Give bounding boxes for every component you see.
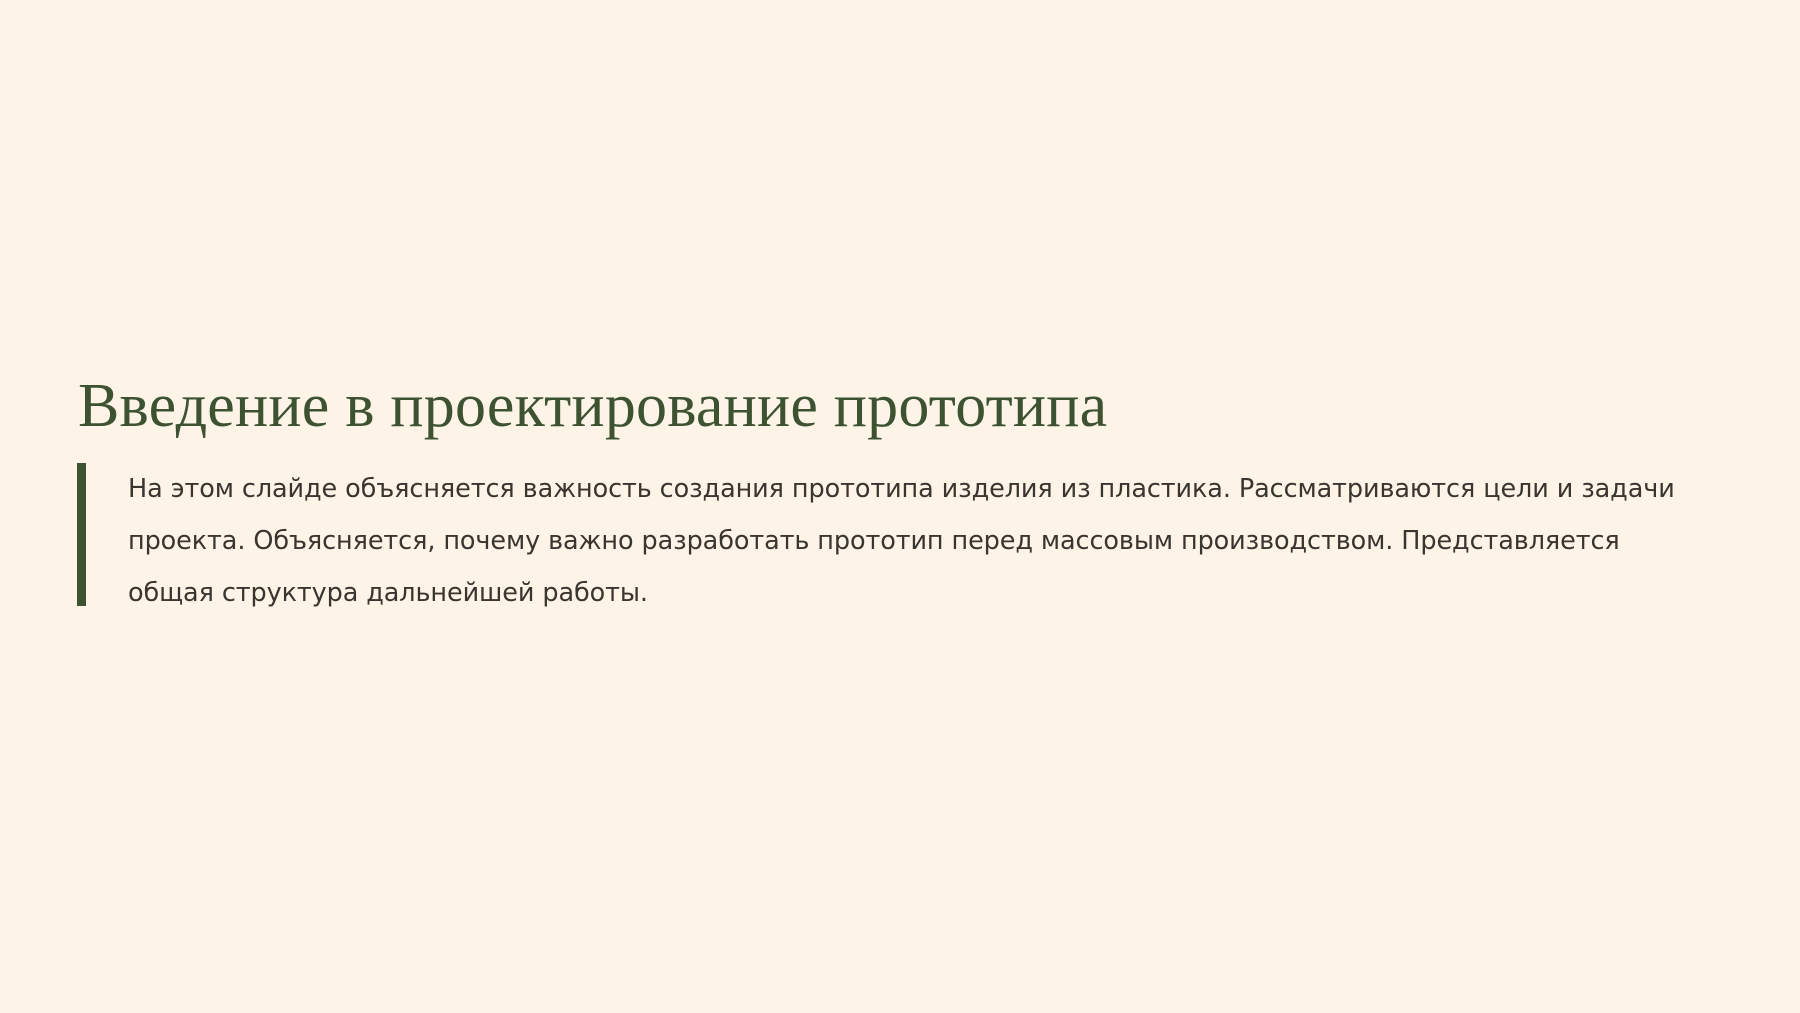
page-title: Введение в проектирование прототипа <box>78 372 1734 441</box>
slide-content: Введение в проектирование прототипа На э… <box>74 372 1734 619</box>
body-paragraph: На этом слайде объясняется важность созд… <box>128 463 1708 619</box>
body-callout: На этом слайде объясняется важность созд… <box>74 463 1734 619</box>
slide-canvas: Введение в проектирование прототипа На э… <box>0 0 1800 1013</box>
accent-bar <box>77 463 86 606</box>
